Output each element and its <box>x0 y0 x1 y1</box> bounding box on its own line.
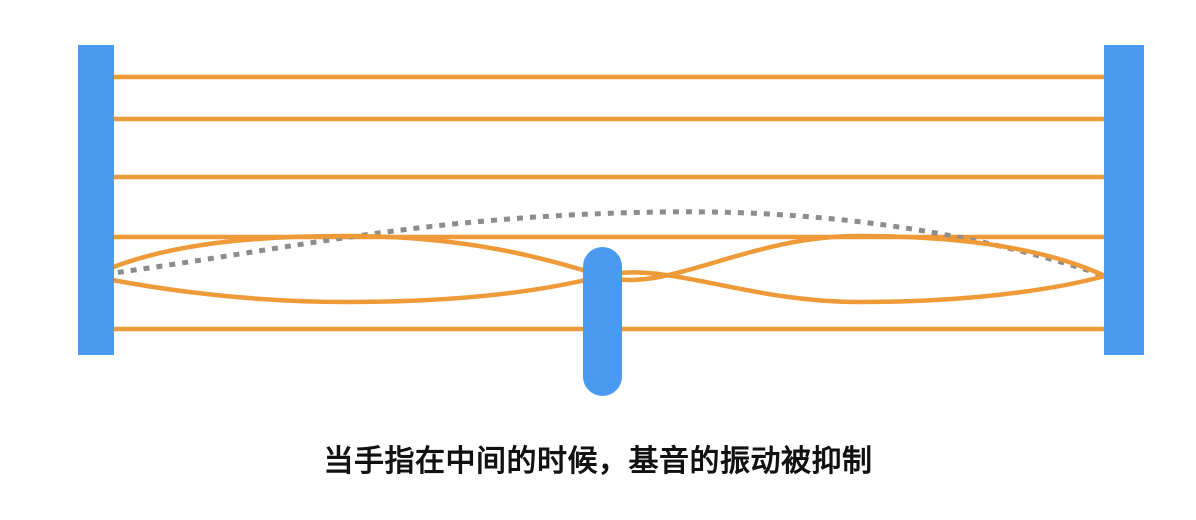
finger <box>583 247 622 396</box>
caption-text: 当手指在中间的时候，基音的振动被抑制 <box>0 440 1196 484</box>
left-nut <box>78 45 114 355</box>
figure-canvas: 当手指在中间的时候，基音的振动被抑制 <box>0 0 1196 520</box>
right-nut <box>1104 45 1144 355</box>
